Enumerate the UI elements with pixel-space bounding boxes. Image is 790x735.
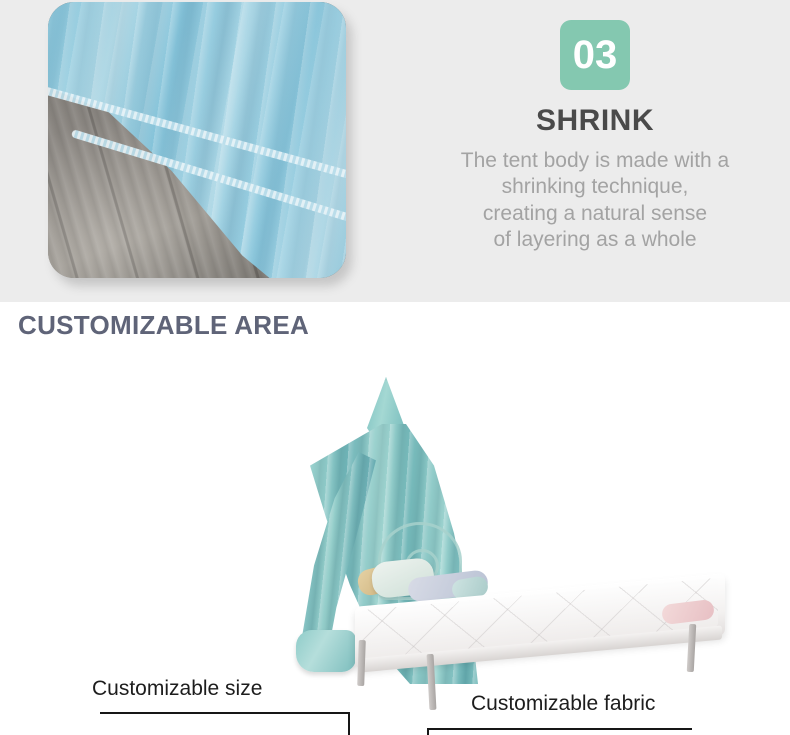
product-detail-page: 03 SHRINK The tent body is made with a s… (0, 0, 790, 735)
section-heading: CUSTOMIZABLE AREA (18, 310, 309, 341)
feature-description-line-1: The tent body is made with a (400, 148, 790, 174)
customizable-area-section: CUSTOMIZABLE AREA Customizable size Cust… (0, 302, 790, 735)
feature-description-line-4: of layering as a whole (400, 227, 790, 253)
canopy-floor-pool (296, 630, 356, 672)
shrink-feature-section: 03 SHRINK The tent body is made with a s… (0, 0, 790, 302)
photo-inner (48, 2, 346, 278)
leader-line-fabric (427, 728, 692, 735)
step-number-badge: 03 (560, 20, 630, 90)
leader-line-size (100, 712, 350, 735)
callout-label-fabric: Customizable fabric (471, 692, 655, 716)
shrink-fabric-photo (48, 2, 346, 278)
feature-description: The tent body is made with a shrinking t… (400, 148, 790, 254)
feature-description-line-2: shrinking technique, (400, 174, 790, 200)
bed-leg-front-left (357, 640, 366, 686)
feature-title: SHRINK (400, 104, 790, 138)
callout-label-size: Customizable size (92, 677, 262, 701)
bed-leg-right (687, 624, 697, 672)
shrink-text-column: 03 SHRINK The tent body is made with a s… (400, 0, 790, 302)
feature-description-line-3: creating a natural sense (400, 201, 790, 227)
